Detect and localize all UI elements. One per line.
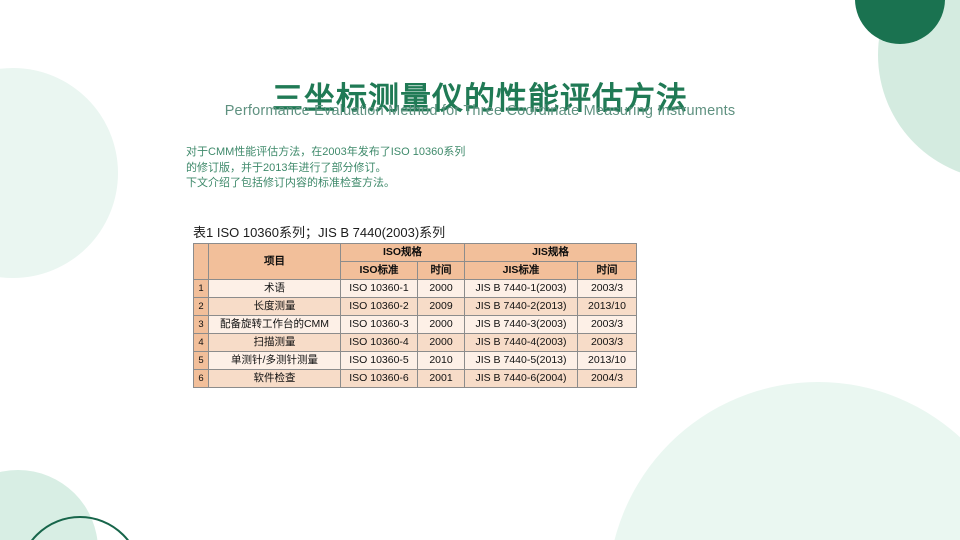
cell-jis-standard: JIS B 7440-2(2013) (465, 298, 578, 316)
table-row: 4 扫描测量 ISO 10360-4 2000 JIS B 7440-4(200… (194, 334, 637, 352)
cell-iso-standard: ISO 10360-1 (341, 280, 418, 298)
cell-iso-time: 2009 (418, 298, 465, 316)
cell-item: 软件检查 (209, 370, 341, 388)
cell-jis-standard: JIS B 7440-1(2003) (465, 280, 578, 298)
table-row: 2 长度测量 ISO 10360-2 2009 JIS B 7440-2(201… (194, 298, 637, 316)
row-number: 2 (194, 298, 209, 316)
cell-jis-standard: JIS B 7440-6(2004) (465, 370, 578, 388)
row-number: 4 (194, 334, 209, 352)
cell-iso-time: 2000 (418, 316, 465, 334)
cell-iso-time: 2000 (418, 334, 465, 352)
cell-jis-standard: JIS B 7440-5(2013) (465, 352, 578, 370)
row-number: 3 (194, 316, 209, 334)
cell-jis-time: 2003/3 (578, 334, 637, 352)
row-number: 1 (194, 280, 209, 298)
header-jis-group: JIS规格 (465, 244, 637, 262)
cell-iso-time: 2000 (418, 280, 465, 298)
cell-item: 术语 (209, 280, 341, 298)
header-jis-standard: JIS标准 (465, 262, 578, 280)
header-corner-blank (194, 244, 209, 280)
table-header-row-group: 项目 ISO规格 JIS规格 (194, 244, 637, 262)
cell-item: 单测针/多测针测量 (209, 352, 341, 370)
cell-item: 配备旋转工作台的CMM (209, 316, 341, 334)
header-jis-time: 时间 (578, 262, 637, 280)
slide-content: 三坐标测量仪的性能评估方法 Performance Evaluation Met… (0, 0, 960, 540)
cell-jis-time: 2013/10 (578, 298, 637, 316)
cell-iso-standard: ISO 10360-6 (341, 370, 418, 388)
slide-subtitle: Performance Evaluation Method for Three … (0, 103, 960, 119)
table-row: 5 单测针/多测针测量 ISO 10360-5 2010 JIS B 7440-… (194, 352, 637, 370)
intro-line-3: 下文介绍了包括修订内容的标准检查方法。 (186, 176, 465, 192)
intro-line-2: 的修订版，并于2013年进行了部分修订。 (186, 161, 465, 177)
cell-item: 长度测量 (209, 298, 341, 316)
table-row: 3 配备旋转工作台的CMM ISO 10360-3 2000 JIS B 744… (194, 316, 637, 334)
table-row: 1 术语 ISO 10360-1 2000 JIS B 7440-1(2003)… (194, 280, 637, 298)
cell-iso-standard: ISO 10360-4 (341, 334, 418, 352)
intro-line-1: 对于CMM性能评估方法，在2003年发布了ISO 10360系列 (186, 145, 465, 161)
table-caption: 表1 ISO 10360系列；JIS B 7440(2003)系列 (193, 222, 445, 241)
spec-table: 项目 ISO规格 JIS规格 ISO标准 时间 JIS标准 时间 1 术语 (193, 243, 637, 388)
cell-iso-standard: ISO 10360-2 (341, 298, 418, 316)
header-iso-standard: ISO标准 (341, 262, 418, 280)
cell-jis-time: 2003/3 (578, 316, 637, 334)
header-iso-time: 时间 (418, 262, 465, 280)
table-head: 项目 ISO规格 JIS规格 ISO标准 时间 JIS标准 时间 (194, 244, 637, 280)
spec-table-container: 项目 ISO规格 JIS规格 ISO标准 时间 JIS标准 时间 1 术语 (193, 243, 637, 388)
intro-paragraph: 对于CMM性能评估方法，在2003年发布了ISO 10360系列 的修订版，并于… (186, 145, 465, 192)
row-number: 5 (194, 352, 209, 370)
header-item: 项目 (209, 244, 341, 280)
cell-iso-standard: ISO 10360-3 (341, 316, 418, 334)
header-iso-group: ISO规格 (341, 244, 465, 262)
row-number: 6 (194, 370, 209, 388)
cell-iso-standard: ISO 10360-5 (341, 352, 418, 370)
cell-jis-time: 2003/3 (578, 280, 637, 298)
table-row: 6 软件检查 ISO 10360-6 2001 JIS B 7440-6(200… (194, 370, 637, 388)
cell-jis-time: 2013/10 (578, 352, 637, 370)
cell-iso-time: 2010 (418, 352, 465, 370)
cell-item: 扫描测量 (209, 334, 341, 352)
table-body: 1 术语 ISO 10360-1 2000 JIS B 7440-1(2003)… (194, 280, 637, 388)
cell-jis-standard: JIS B 7440-4(2003) (465, 334, 578, 352)
cell-jis-standard: JIS B 7440-3(2003) (465, 316, 578, 334)
slide-canvas: 三坐标测量仪的性能评估方法 Performance Evaluation Met… (0, 0, 960, 540)
cell-iso-time: 2001 (418, 370, 465, 388)
cell-jis-time: 2004/3 (578, 370, 637, 388)
